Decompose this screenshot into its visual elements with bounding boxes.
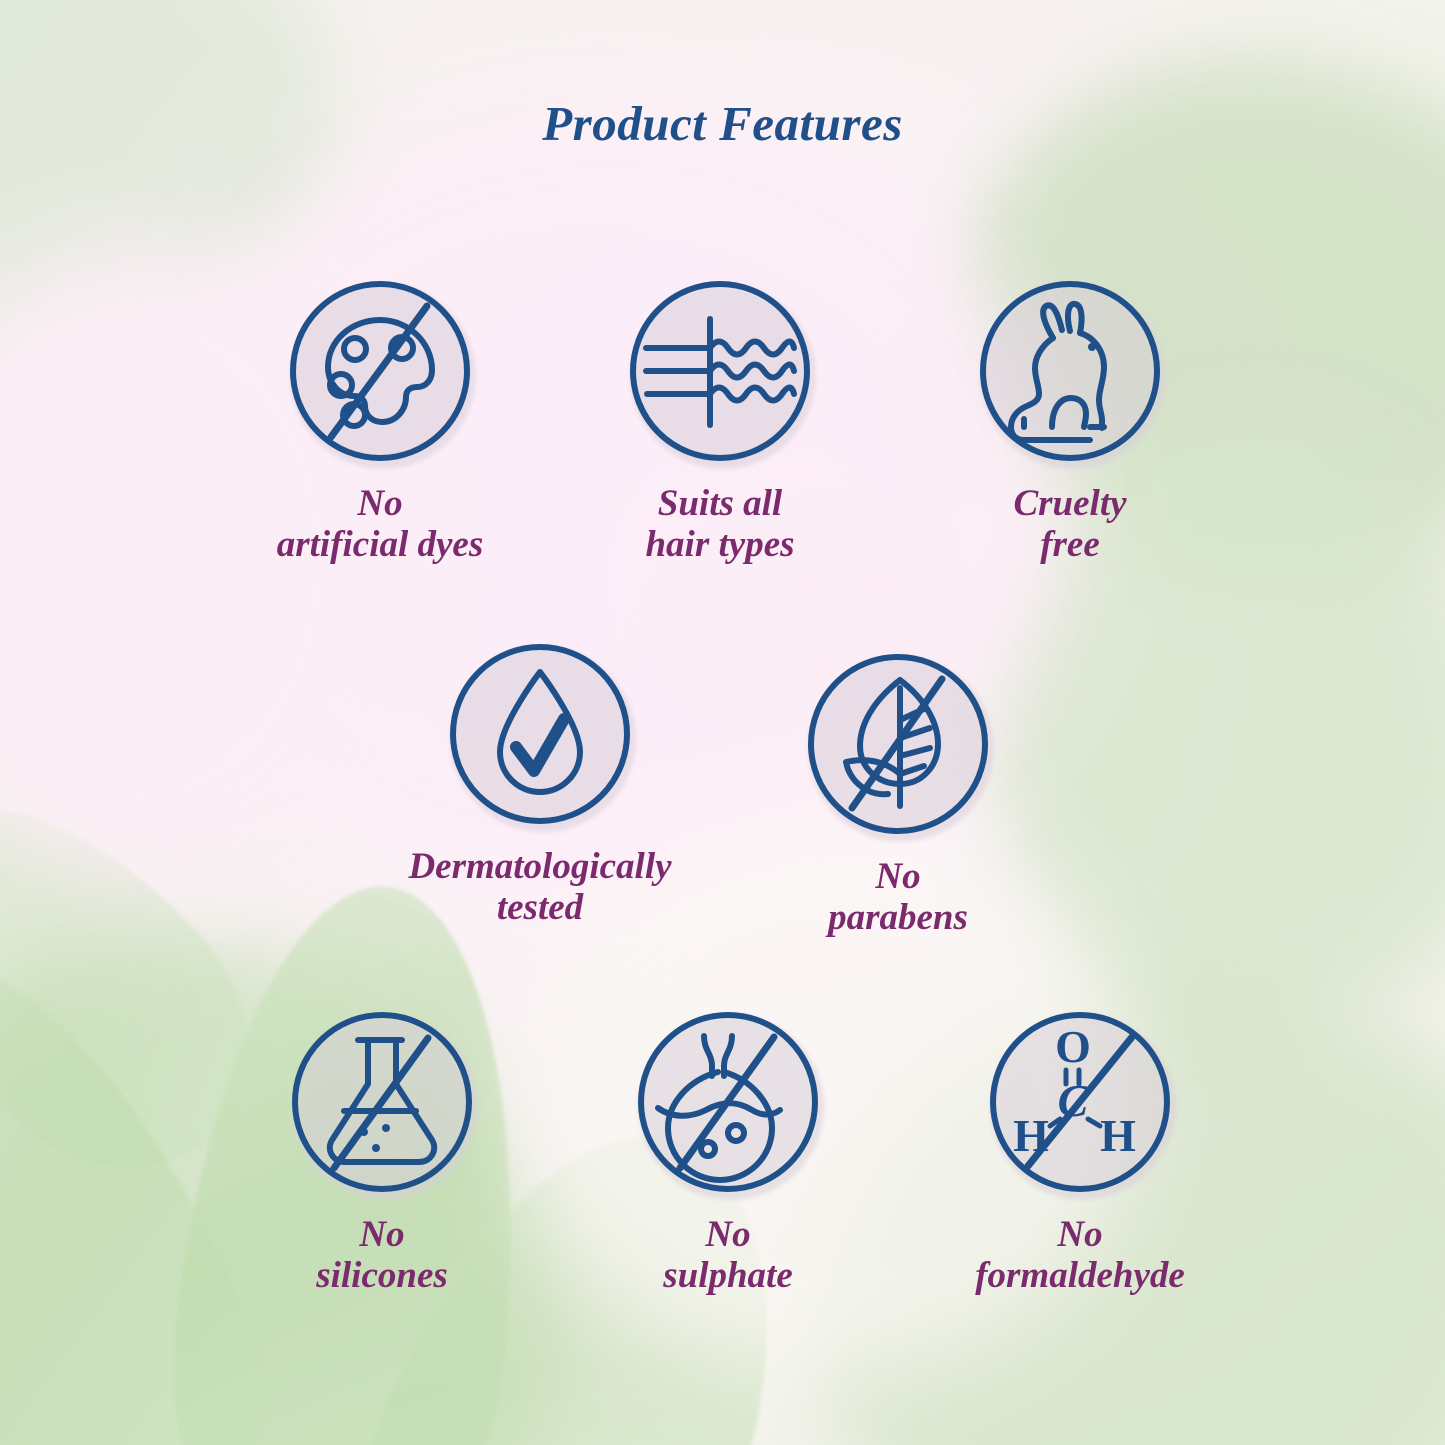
- no-artificial-dyes-palette-icon: [284, 275, 476, 467]
- badge-no-silicones: [286, 1006, 478, 1198]
- hydrogen-right-atom-label: H: [1100, 1110, 1136, 1161]
- feature-label: No parabens: [748, 856, 1048, 939]
- badge-no-formaldehyde: O C H H: [984, 1006, 1176, 1198]
- feature-no-artificial-dyes: No artificial dyes: [230, 275, 530, 566]
- feature-label: Cruelty free: [920, 483, 1220, 566]
- cruelty-free-rabbit-icon: [974, 275, 1166, 467]
- no-formaldehyde-molecule-icon: O C H H: [984, 1006, 1176, 1198]
- page-title: Product Features: [0, 95, 1445, 152]
- dermatologically-tested-droplet-check-icon: [444, 638, 636, 830]
- badge-suits-all-hair-types: [624, 275, 816, 467]
- feature-label: No silicones: [232, 1214, 532, 1297]
- badge-no-artificial-dyes: [284, 275, 476, 467]
- no-silicones-flask-icon: [286, 1006, 478, 1198]
- feature-label: No artificial dyes: [230, 483, 530, 566]
- badge-dermatologically-tested: [444, 638, 636, 830]
- hair-types-waves-icon: [624, 275, 816, 467]
- feature-label: Dermatologically tested: [390, 846, 690, 929]
- feature-suits-all-hair-types: Suits all hair types: [570, 275, 870, 566]
- content-layer: Product Features No artificia: [0, 0, 1445, 1445]
- no-sulphate-flask-icon: [632, 1006, 824, 1198]
- badge-no-sulphate: [632, 1006, 824, 1198]
- feature-no-sulphate: No sulphate: [578, 1006, 878, 1297]
- feature-label: No sulphate: [578, 1214, 878, 1297]
- feature-no-parabens: No parabens: [748, 648, 1048, 939]
- feature-label: Suits all hair types: [570, 483, 870, 566]
- product-features-infographic: Product Features No artificia: [0, 0, 1445, 1445]
- feature-dermatologically-tested: Dermatologically tested: [390, 638, 690, 929]
- badge-cruelty-free: [974, 275, 1166, 467]
- feature-no-formaldehyde: O C H H No formaldehyde: [930, 1006, 1230, 1297]
- no-parabens-leaf-icon: [802, 648, 994, 840]
- feature-no-silicones: No silicones: [232, 1006, 532, 1297]
- hydrogen-left-atom-label: H: [1013, 1110, 1049, 1161]
- oxygen-atom-label: O: [1055, 1021, 1091, 1072]
- feature-label: No formaldehyde: [930, 1214, 1230, 1297]
- feature-cruelty-free: Cruelty free: [920, 275, 1220, 566]
- badge-no-parabens: [802, 648, 994, 840]
